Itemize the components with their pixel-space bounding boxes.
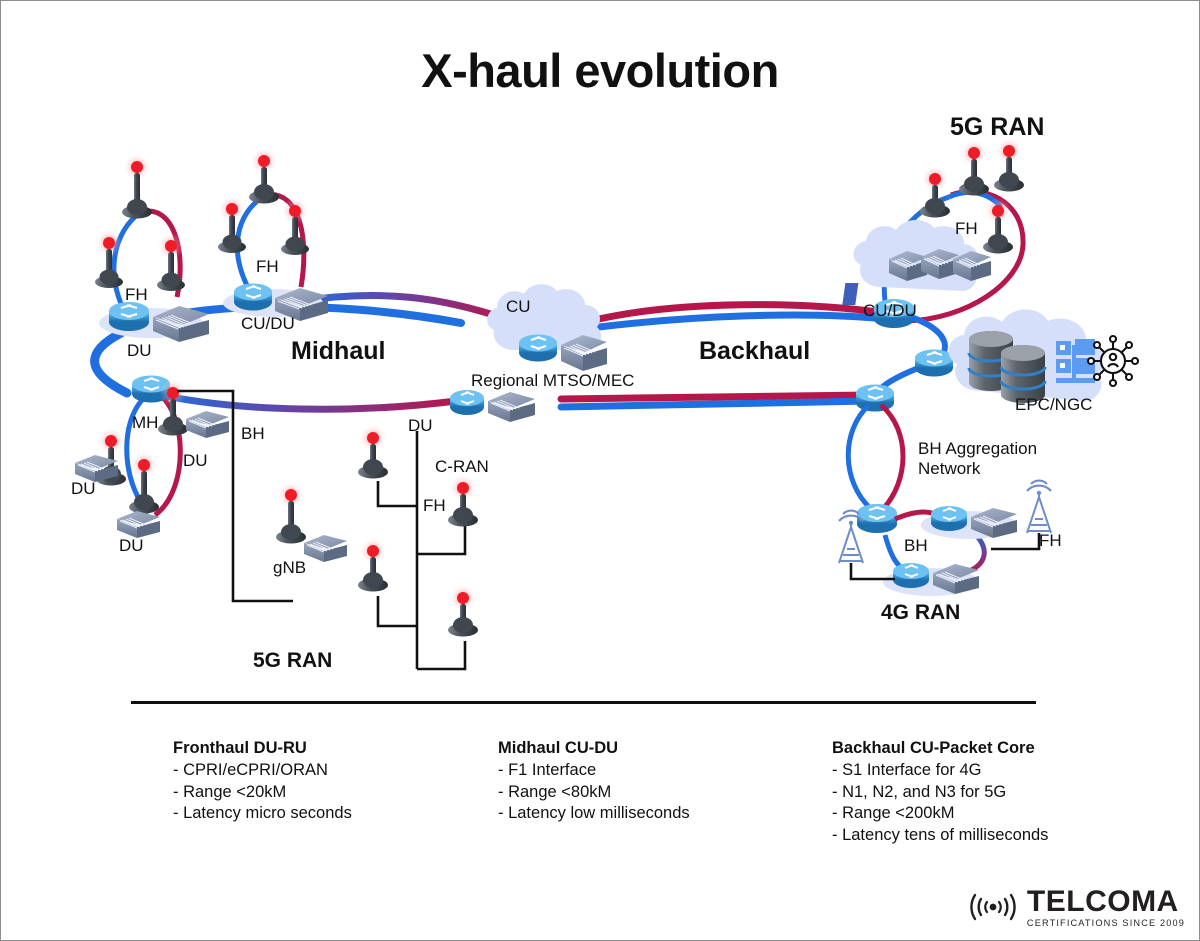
router-icon [931, 506, 967, 531]
label-fh-4g: FH [1039, 531, 1062, 551]
signal-wave-icon [965, 889, 1021, 925]
wave-center-dot [990, 904, 997, 911]
router-icon [450, 390, 484, 415]
mh-ring-red [153, 391, 180, 515]
legend-backhaul-head: Backhaul CU-Packet Core [832, 738, 1048, 759]
label-4g-ran: 4G RAN [881, 601, 960, 625]
label-bh-right: BH [904, 536, 928, 556]
antenna-right-4 [983, 198, 1013, 254]
router-icon [519, 335, 557, 362]
label-cu: CU [506, 297, 531, 317]
legend-midhaul-item-1: - Range <80kM [498, 782, 690, 803]
legend-fronthaul-item-2: - Latency micro seconds [173, 803, 352, 824]
legend-backhaul-item-2: - Range <200kM [832, 803, 1048, 824]
antenna-fh2-right [281, 198, 309, 255]
legend-midhaul: Midhaul CU-DU - F1 Interface - Range <80… [498, 738, 690, 825]
telcoma-logo: TELCOMA CERTIFICATIONS SINCE 2009 [965, 887, 1185, 928]
router-right-agg-top [856, 385, 894, 412]
cran-branch-3 [378, 596, 417, 626]
legend-backhaul-item-3: - Latency tens of milliseconds [832, 825, 1048, 846]
label-cudu-right: CU/DU [863, 301, 917, 321]
legend-fronthaul-item-1: - Range <20kM [173, 782, 352, 803]
label-mh: MH [132, 413, 158, 433]
antenna-cran-1 [358, 425, 388, 479]
cloud-epc-ngc [949, 310, 1138, 404]
label-bh-left: BH [241, 424, 265, 444]
label-cran-fh: FH [423, 496, 446, 516]
legend-midhaul-item-0: - F1 Interface [498, 760, 690, 781]
label-du-mh-bottom: DU [119, 536, 144, 556]
label-mtso: Regional MTSO/MEC [471, 371, 634, 391]
router-right-mid [915, 350, 953, 377]
backhaul-upper-blue [599, 315, 885, 327]
cloud-stem [842, 283, 858, 305]
switch-gnb [304, 535, 347, 562]
antenna-fh1-left [95, 230, 123, 288]
router-icon [234, 284, 272, 311]
label-cran: C-RAN [435, 457, 489, 477]
router-icon [109, 302, 149, 331]
label-du-left: DU [127, 341, 152, 361]
antenna-right-2 [959, 140, 989, 196]
switch-icon [488, 392, 535, 422]
diagram-page: X-haul evolution [0, 0, 1200, 941]
bh-agg-ring-red [881, 405, 903, 509]
legend-fronthaul-item-0: - CPRI/eCPRI/ORAN [173, 760, 352, 781]
site-mtso-edge [450, 390, 535, 422]
label-du-mh-right: DU [183, 451, 208, 471]
label-fh-left-1: FH [125, 285, 148, 305]
router-icon [893, 563, 929, 588]
cran-branch-4 [417, 641, 465, 669]
label-fh-right: FH [955, 219, 978, 239]
site-4g-bottom [883, 563, 979, 596]
antenna-right-3 [994, 138, 1024, 192]
bh-agg-ring-blue [848, 405, 871, 509]
label-bh-aggregation: BH Aggregation Network [918, 439, 1058, 480]
label-cran-du: DU [408, 416, 433, 436]
section-divider [131, 701, 1036, 704]
router-bh-agg [857, 504, 897, 533]
logo-tagline: CERTIFICATIONS SINCE 2009 [1027, 919, 1185, 928]
label-midhaul: Midhaul [291, 337, 385, 366]
label-5g-ran-right: 5G RAN [950, 113, 1044, 142]
antenna-cran-3 [358, 538, 388, 592]
antenna-cran-2 [448, 475, 478, 527]
legend-backhaul-item-0: - S1 Interface for 4G [832, 760, 1048, 781]
label-du-mh-left: DU [71, 479, 96, 499]
trunk-link-lower-purple [151, 393, 456, 409]
macro-tower-right [1027, 481, 1051, 533]
trunk-link-left-bend [95, 333, 127, 393]
antenna-right-1 [920, 166, 950, 218]
antenna-mh-du-right [158, 380, 188, 436]
cran-branch-1 [378, 481, 417, 506]
label-fh-left-2: FH [256, 257, 279, 277]
legend-midhaul-item-2: - Latency low milliseconds [498, 803, 690, 824]
site-4g-right [921, 506, 1017, 539]
label-cudu-left: CU/DU [241, 314, 295, 334]
antenna-fh1-top [122, 154, 152, 219]
legend-fronthaul: Fronthaul DU-RU - CPRI/eCPRI/ORAN - Rang… [173, 738, 352, 825]
logo-brand: TELCOMA [1027, 887, 1185, 917]
switch-mh-du-bottom [117, 511, 160, 538]
label-backhaul: Backhaul [699, 337, 810, 366]
legend-backhaul-item-1: - N1, N2, and N3 for 5G [832, 782, 1048, 803]
legend-midhaul-head: Midhaul CU-DU [498, 738, 690, 759]
antenna-cran-4 [448, 585, 478, 637]
label-5g-ran-bottom: 5G RAN [253, 649, 332, 673]
legend-fronthaul-head: Fronthaul DU-RU [173, 738, 352, 759]
label-epc-ngc: EPC/NGC [1015, 395, 1092, 415]
macro-tower-left [839, 511, 863, 563]
network-hub-icon [1088, 336, 1138, 386]
legend-backhaul: Backhaul CU-Packet Core - S1 Interface f… [832, 738, 1048, 846]
antenna-gnb [276, 482, 306, 544]
label-gnb: gNB [273, 558, 306, 578]
switch-mh-du-right [186, 411, 229, 438]
antenna-fh2-top [249, 148, 279, 204]
